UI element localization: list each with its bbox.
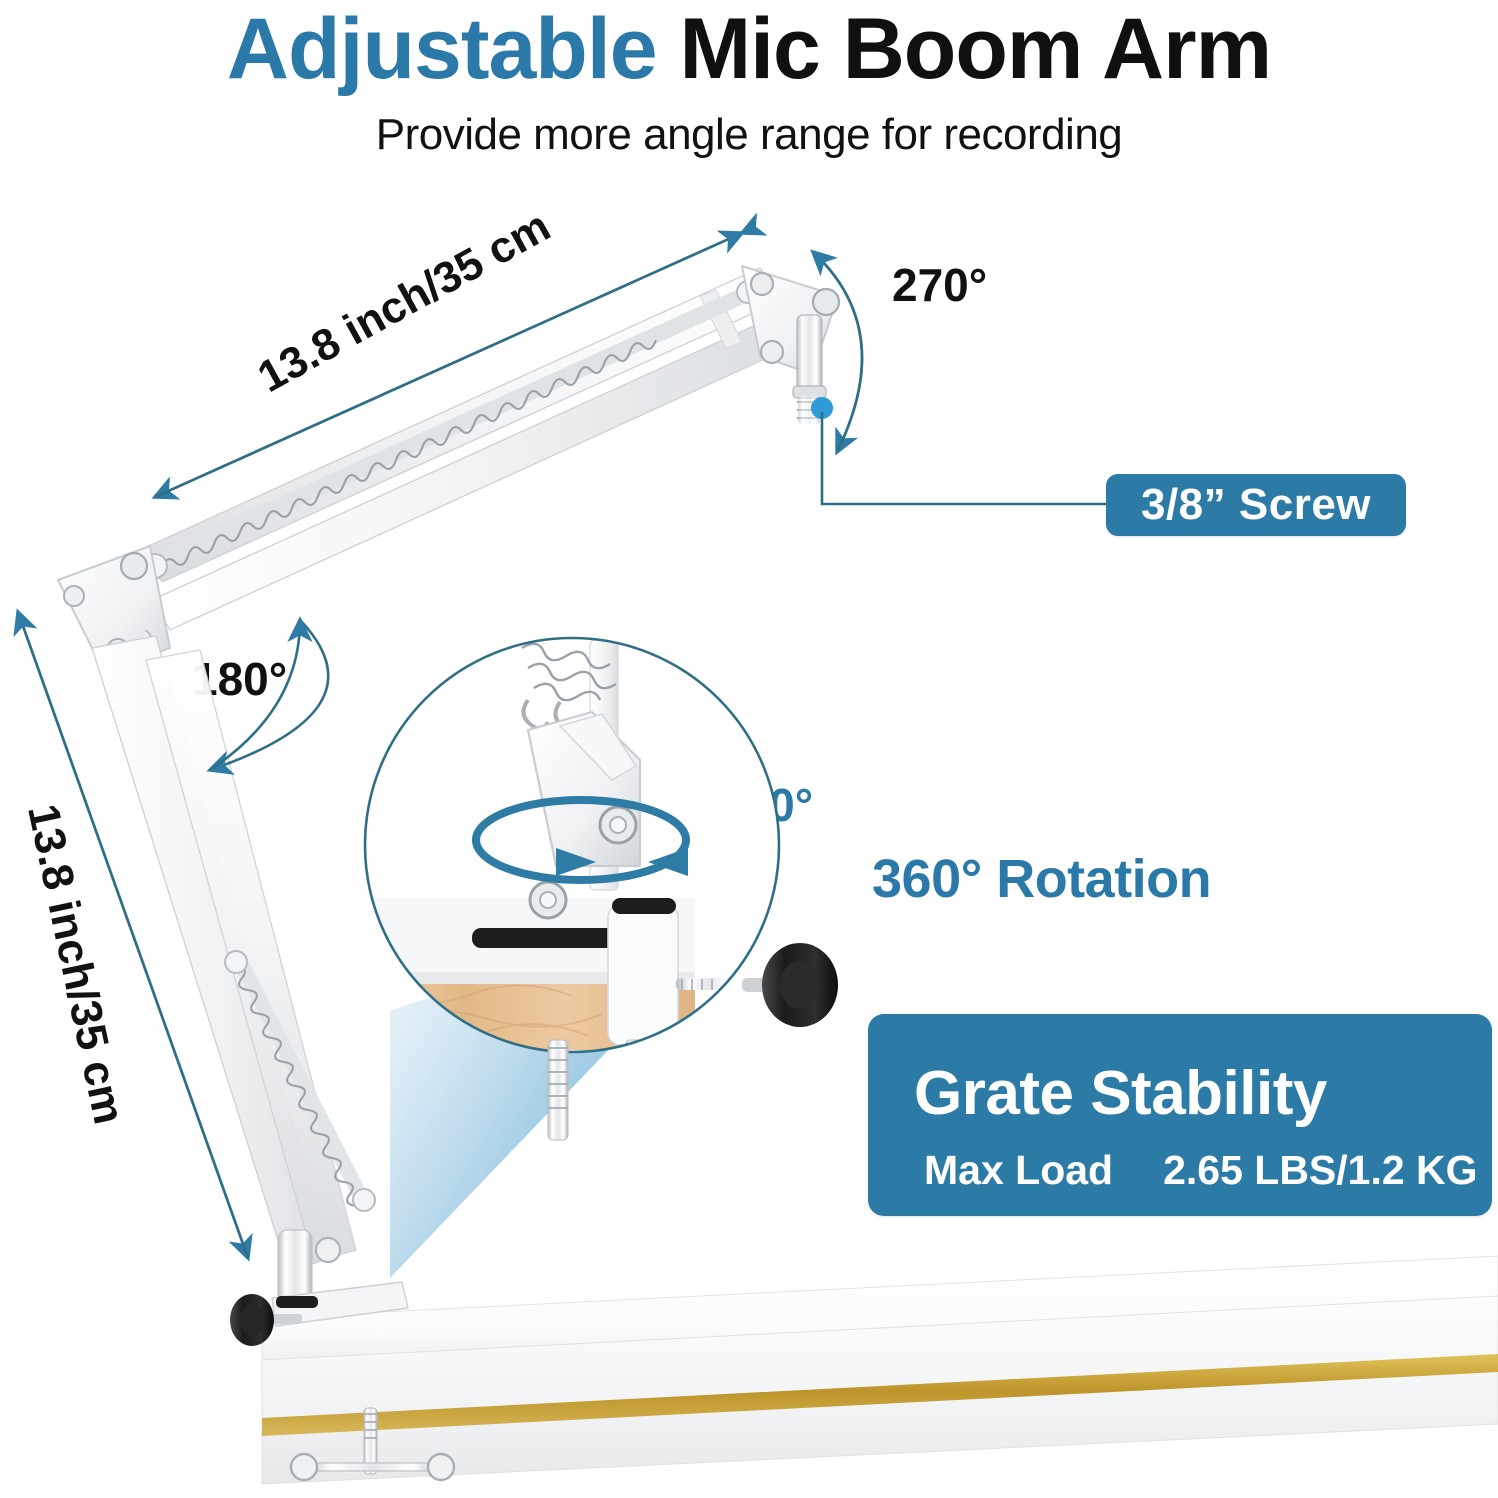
dimension-arrow-top-end — [155, 233, 742, 497]
annotation-overlay — [0, 0, 1498, 1498]
arc-270-reverse — [813, 252, 862, 452]
rotation-ellipse-360 — [476, 800, 688, 880]
arc-180-reverse — [210, 620, 300, 770]
screw-leader-line — [811, 397, 1106, 504]
dimension-arrow-left-start — [18, 612, 248, 1258]
infographic-canvas: Adjustable Mic Boom Arm Provide more ang… — [0, 0, 1498, 1498]
arc-180 — [210, 620, 328, 770]
